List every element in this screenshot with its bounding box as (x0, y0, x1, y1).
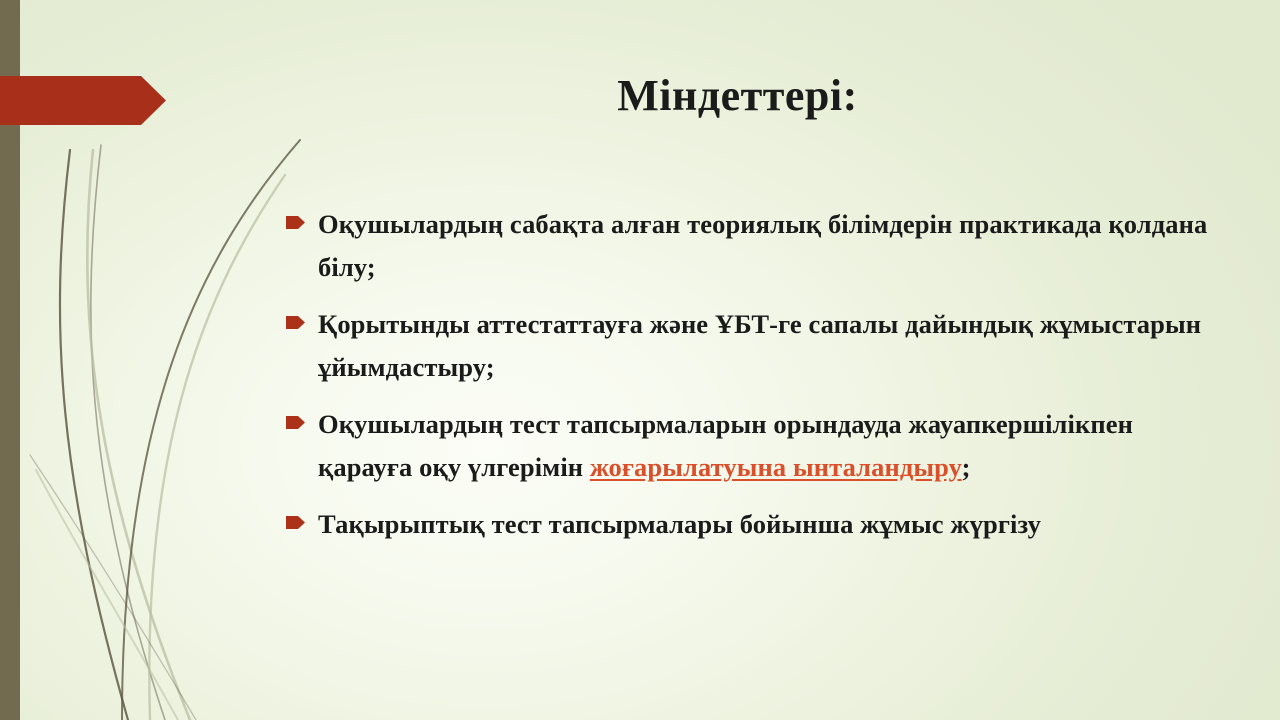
text-segment: ; (962, 452, 971, 482)
list-item-text: Тақырыптық тест тапсырмалары бойынша жұм… (318, 503, 1211, 546)
text-segment: Тақырыптық тест тапсырмалары бойынша жұм… (318, 509, 1041, 539)
text-segment: Қорытынды аттестаттауға және ҰБТ-ге сапа… (318, 309, 1201, 382)
red-pennant-banner (0, 76, 166, 125)
arrow-bullet-icon (286, 416, 305, 429)
list-item: Оқушылардың сабақта алған теориялық білі… (286, 203, 1211, 289)
list-item-text: Қорытынды аттестаттауға және ҰБТ-ге сапа… (318, 303, 1211, 389)
list-item: Тақырыптық тест тапсырмалары бойынша жұм… (286, 503, 1211, 546)
list-item-text: Оқушылардың тест тапсырмаларын орындауда… (318, 403, 1211, 489)
presentation-slide: Міндеттері: Оқушылардың сабақта алған те… (0, 0, 1280, 720)
highlighted-text-segment: жоғарылатуына ынталандыру (590, 452, 962, 482)
arrow-bullet-icon (286, 316, 305, 329)
arrow-bullet-icon (286, 216, 305, 229)
list-item-text: Оқушылардың сабақта алған теориялық білі… (318, 203, 1211, 289)
bullet-list: Оқушылардың сабақта алған теориялық білі… (286, 203, 1211, 560)
slide-title: Міндеттері: (200, 72, 1275, 120)
arrow-bullet-icon (286, 516, 305, 529)
text-segment: Оқушылардың сабақта алған теориялық білі… (318, 209, 1207, 282)
list-item: Қорытынды аттестаттауға және ҰБТ-ге сапа… (286, 303, 1211, 389)
list-item: Оқушылардың тест тапсырмаларын орындауда… (286, 403, 1211, 489)
